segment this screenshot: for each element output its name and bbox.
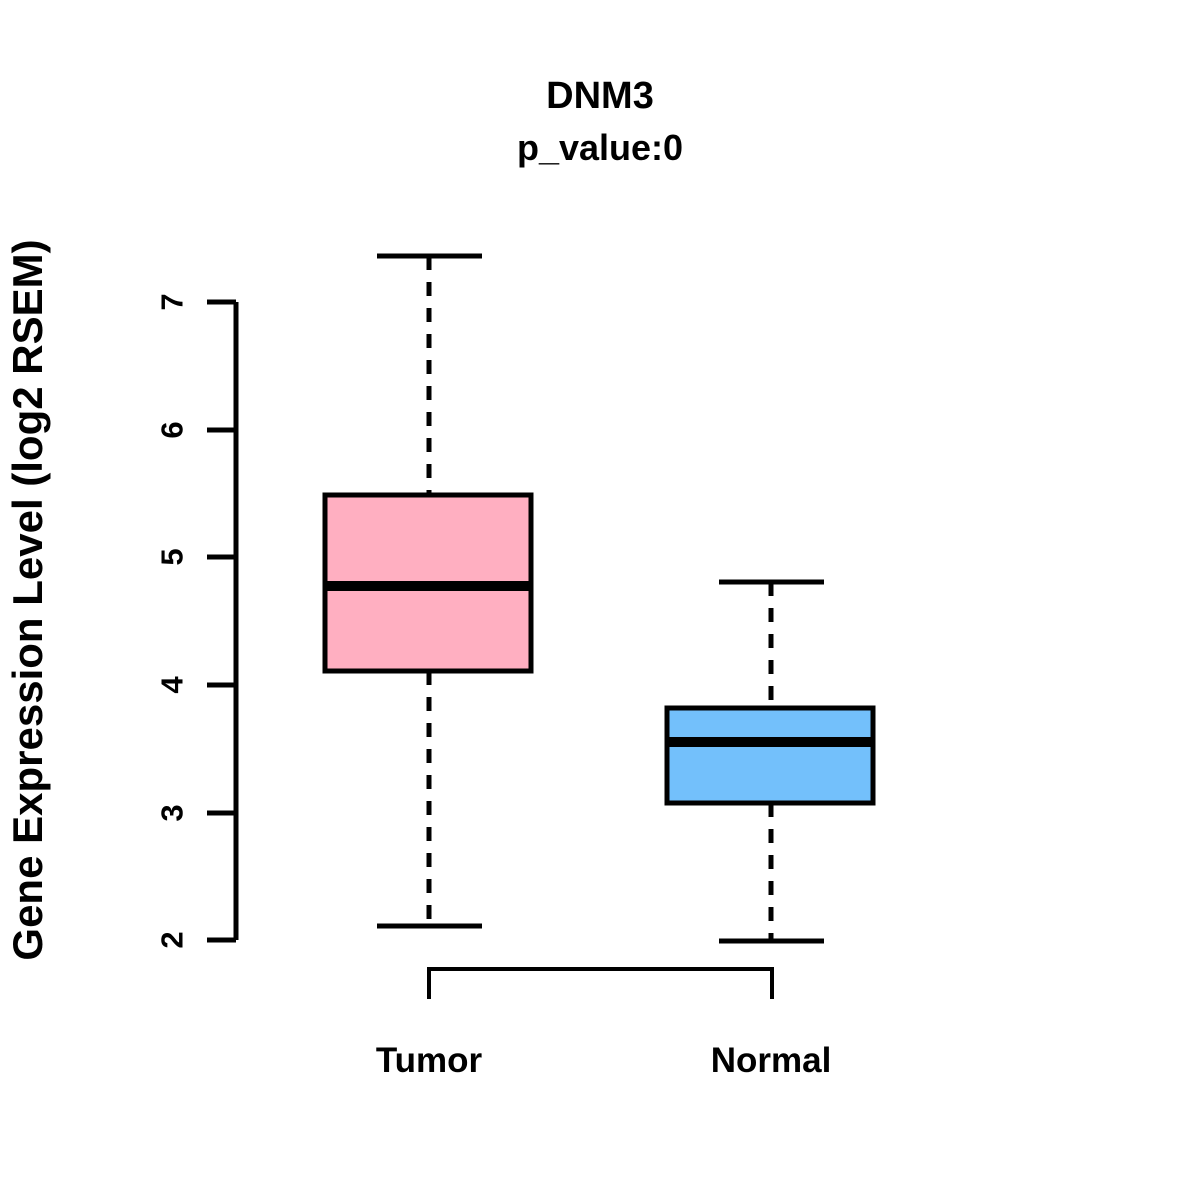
x-axis-label-tumor: Tumor <box>376 1041 483 1080</box>
y-axis-title: Gene Expression Level (log2 RSEM) <box>4 239 51 960</box>
box-rect-normal <box>667 708 873 803</box>
x-axis-bracket <box>429 969 772 999</box>
y-tick-label-2: 2 <box>155 931 190 948</box>
x-axis-label-normal: Normal <box>711 1041 832 1080</box>
chart-subtitle: p_value:0 <box>517 127 683 168</box>
y-tick-label-4: 4 <box>155 676 190 694</box>
boxplot-figure: DNM3 p_value:0 Gene Expression Level (lo… <box>0 0 1200 1200</box>
y-tick-label-7: 7 <box>155 293 190 310</box>
box-group-tumor <box>325 256 531 926</box>
y-tick-label-3: 3 <box>155 804 190 821</box>
y-tick-label-6: 6 <box>155 421 190 438</box>
y-tick-label-5: 5 <box>155 548 190 565</box>
y-axis-ticks <box>207 302 236 940</box>
boxplot-canvas: DNM3 p_value:0 Gene Expression Level (lo… <box>0 0 1200 1200</box>
box-group-normal <box>667 582 873 941</box>
chart-title: DNM3 <box>546 75 654 117</box>
y-axis-tick-labels: 7 6 5 4 3 2 <box>155 293 190 948</box>
